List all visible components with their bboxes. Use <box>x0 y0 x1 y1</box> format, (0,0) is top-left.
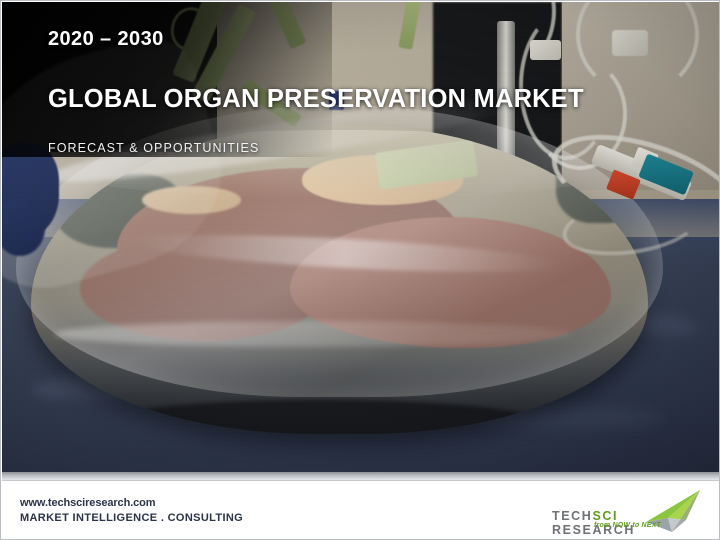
logo-word-tech: TECH <box>552 509 592 523</box>
techsci-research-logo[interactable]: TECHSCI RESEARCH from NOW to NEXT <box>550 488 702 534</box>
cover-footer: www.techsciresearch.com MARKET INTELLIGE… <box>2 480 720 540</box>
report-title: GLOBAL ORGAN PRESERVATION MARKET <box>48 85 668 113</box>
website-url[interactable]: www.techsciresearch.com <box>20 497 243 509</box>
report-subtitle: FORECAST & OPPORTUNITIES <box>48 141 668 155</box>
footer-text-group: www.techsciresearch.com MARKET INTELLIGE… <box>20 497 243 524</box>
forecast-period: 2020 – 2030 <box>48 29 668 49</box>
footer-separator <box>2 472 720 480</box>
company-tagline: MARKET INTELLIGENCE . CONSULTING <box>20 512 243 524</box>
report-cover: 2020 – 2030 GLOBAL ORGAN PRESERVATION MA… <box>0 0 720 540</box>
logo-word-sci: SCI <box>592 509 618 523</box>
title-block: 2020 – 2030 GLOBAL ORGAN PRESERVATION MA… <box>48 29 668 155</box>
logo-slogan: from NOW to NEXT <box>594 522 661 529</box>
